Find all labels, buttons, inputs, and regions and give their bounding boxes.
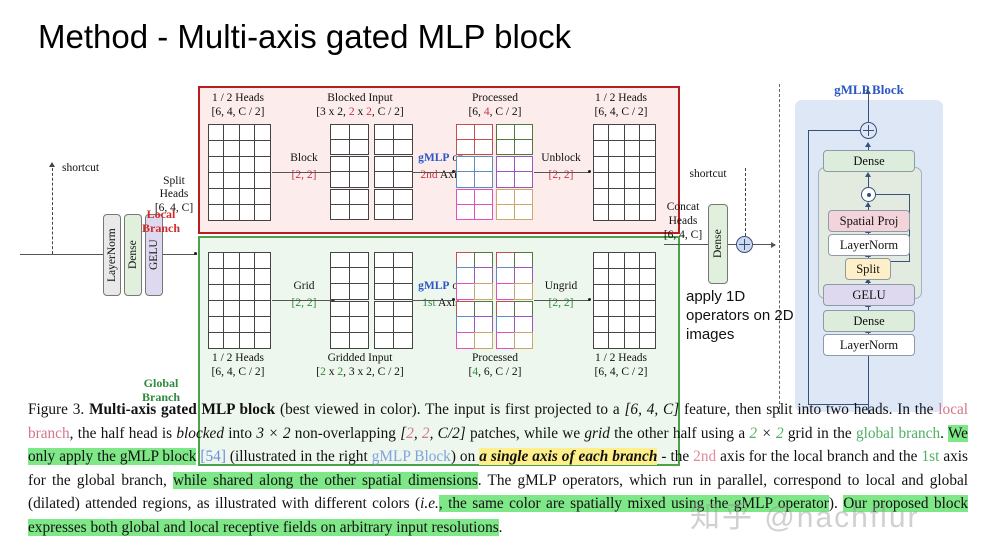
gmlp-layernorm-mid: LayerNorm xyxy=(828,234,910,256)
caption-bold-title: Multi-axis gated MLP block xyxy=(89,401,275,418)
local-proc-shape-a: [6, xyxy=(468,106,483,118)
merge-shortcut-label: shortcut xyxy=(668,168,748,182)
grid-cell xyxy=(349,204,369,220)
input-shortcut-label: shortcut xyxy=(62,162,99,176)
grid-cell xyxy=(208,156,225,173)
grid-cell xyxy=(208,188,225,205)
caption-m1: [6, 4, C] xyxy=(624,401,679,418)
grid-cell xyxy=(330,156,350,172)
grid-cell xyxy=(624,252,641,269)
caption-t2: feature, then split into two heads. In t… xyxy=(679,401,938,418)
grid-cell xyxy=(239,252,256,269)
gmlp-gate-branch-h xyxy=(876,194,910,195)
grid-cell xyxy=(456,283,475,300)
caption-t7: the other half using a xyxy=(610,425,750,442)
grid-cell xyxy=(393,252,413,269)
local-blocked-shape-a: [3 x 2, xyxy=(316,106,349,118)
local-blocked-input xyxy=(330,124,412,220)
caption-axis-2nd: 2nd xyxy=(693,448,716,465)
grid-cell xyxy=(608,300,625,317)
grid-cell xyxy=(496,316,515,333)
grid-cell xyxy=(374,204,394,220)
grid-cell xyxy=(349,189,369,205)
caption-t8: grid in the xyxy=(784,425,856,442)
caption-m3b: 2 xyxy=(406,425,414,442)
grid-cell xyxy=(330,171,350,187)
page-title: Method - Multi-axis gated MLP block xyxy=(38,18,571,56)
gmlp-dense-bottom: Dense xyxy=(823,310,915,332)
grid-cell xyxy=(208,252,225,269)
local-processed-title: Processed xyxy=(440,92,550,106)
global-arrow-ungrid xyxy=(534,300,590,301)
gmlp-residual-plus-icon xyxy=(860,122,877,139)
local-heads-title: 1 / 2 Heads xyxy=(178,92,298,106)
grid-cell xyxy=(349,171,369,187)
sub-grid xyxy=(496,189,532,220)
grid-cell xyxy=(474,332,493,349)
grid-cell xyxy=(474,204,493,220)
grid-cell xyxy=(239,300,256,317)
gmlp-split: Split xyxy=(845,258,891,280)
grid-cell xyxy=(393,204,413,220)
figure-diagram: shortcut LayerNorm Dense GELU Split Head… xyxy=(0,84,991,394)
global-gridded-title: Gridded Input xyxy=(295,352,425,366)
grid-cell xyxy=(496,156,515,172)
grid-cell xyxy=(456,301,475,318)
local-arrow-block xyxy=(272,172,334,173)
local-proc-shape-c: , C / 2] xyxy=(490,106,522,118)
local-blocked-shape: [3 x 2, 2 x 2, C / 2] xyxy=(295,106,425,120)
local-out-title: 1 / 2 Heads xyxy=(566,92,676,106)
grid-cell xyxy=(456,267,475,284)
grid-cell xyxy=(393,332,413,349)
grid-cell xyxy=(608,332,625,349)
input-layernorm-block: LayerNorm xyxy=(103,214,121,296)
grid-cell xyxy=(639,124,656,141)
grid-cell xyxy=(239,156,256,173)
grid-cell xyxy=(254,156,271,173)
global-out-shape: [6, 4, C / 2] xyxy=(566,366,676,380)
grid-cell xyxy=(349,267,369,284)
global-grid-shape-e: , 3 x 2, C / 2] xyxy=(343,366,404,378)
caption-global-branch: global branch xyxy=(856,425,940,442)
concat-arrow xyxy=(664,244,708,245)
grid-cell xyxy=(624,140,641,157)
caption-t5: non-overlapping xyxy=(291,425,401,442)
caption-highlight-yellow: a single axis of each branch xyxy=(479,448,657,465)
local-blocked-title: Blocked Input xyxy=(295,92,425,106)
grid-cell xyxy=(624,300,641,317)
grid-cell xyxy=(349,283,369,300)
grid-cell xyxy=(608,284,625,301)
sub-grid xyxy=(456,189,492,220)
global-gridded-input xyxy=(330,252,412,348)
sub-grid xyxy=(374,252,412,299)
grid-cell xyxy=(330,139,350,155)
grid-cell xyxy=(608,252,625,269)
grid-cell xyxy=(608,188,625,205)
global-arrow-gmlp xyxy=(412,300,454,301)
split-junction-dot xyxy=(194,252,197,255)
gmlp-arrow-to-odot xyxy=(865,202,871,207)
global-axis-num: 1st xyxy=(422,297,435,309)
grid-cell xyxy=(349,316,369,333)
local-blocked-shape-e: , C / 2] xyxy=(372,106,404,118)
concat-shape: [6, 4, C] xyxy=(650,229,716,243)
grid-cell xyxy=(624,332,641,349)
global-gmlp-label: gMLP xyxy=(418,280,449,292)
gmlp-dense-top: Dense xyxy=(823,150,915,172)
grid-cell xyxy=(639,252,656,269)
local-arrow-unblock xyxy=(534,172,590,173)
grid-cell xyxy=(456,171,475,187)
shortcut-arrowhead xyxy=(49,162,55,167)
caption-m4b: × xyxy=(757,425,776,442)
grid-cell xyxy=(374,267,394,284)
caption-axis-1st: 1st xyxy=(921,448,939,465)
grid-cell xyxy=(639,156,656,173)
sub-grid xyxy=(330,157,368,188)
grid-cell xyxy=(496,124,515,140)
grid-cell xyxy=(639,268,656,285)
sub-grid xyxy=(496,301,532,348)
grid-cell xyxy=(624,172,641,189)
grid-cell xyxy=(608,204,625,221)
concat-label-1: Concat xyxy=(650,201,716,215)
grid-cell xyxy=(496,252,515,269)
grid-cell xyxy=(223,140,240,157)
caption-i2: grid xyxy=(584,425,610,442)
grid-cell xyxy=(624,284,641,301)
caption-t17: . xyxy=(499,519,503,536)
grid-cell xyxy=(254,140,271,157)
local-op1-name: Block xyxy=(276,152,332,166)
grid-cell xyxy=(474,189,493,205)
grid-cell xyxy=(223,300,240,317)
caption-figure-number: Figure 3. xyxy=(28,401,84,418)
grid-cell xyxy=(624,316,641,333)
caption-t11: ) on xyxy=(451,448,479,465)
figure-separator-dashed xyxy=(779,84,780,414)
gmlp-gate-multiply-icon xyxy=(861,187,876,202)
caption-highlight-2: while shared along the other spatial dim… xyxy=(173,472,478,489)
grid-cell xyxy=(239,124,256,141)
local-arrow-gmlp xyxy=(412,172,454,173)
grid-cell xyxy=(593,252,610,269)
sub-grid xyxy=(374,301,412,348)
grid-cell xyxy=(639,284,656,301)
sub-grid xyxy=(456,124,492,155)
grid-cell xyxy=(608,268,625,285)
grid-cell xyxy=(393,124,413,140)
local-branch-label-line2: Branch xyxy=(142,221,180,235)
grid-cell xyxy=(349,332,369,349)
gmlp-layernorm-bottom: LayerNorm xyxy=(823,334,915,356)
caption-t6: patches, while we xyxy=(466,425,585,442)
grid-cell xyxy=(374,332,394,349)
grid-cell xyxy=(593,140,610,157)
grid-cell xyxy=(223,284,240,301)
sub-grid xyxy=(496,157,532,188)
grid-cell xyxy=(496,171,515,187)
grid-cell xyxy=(208,332,225,349)
grid-cell xyxy=(514,189,533,205)
caption-t9: . xyxy=(940,425,948,442)
grid-cell xyxy=(208,300,225,317)
grid-cell xyxy=(239,268,256,285)
sub-grid xyxy=(496,252,532,299)
figure-caption: Figure 3. Multi-axis gated MLP block (be… xyxy=(28,398,968,540)
caption-highlight-3: , the same color are spatially mixed usi… xyxy=(439,495,829,512)
caption-gmlp-block-link: gMLP Block xyxy=(372,448,451,465)
grid-cell xyxy=(374,316,394,333)
caption-t1: (best viewed in color). The input is fir… xyxy=(275,401,624,418)
local-processed-shape: [6, 4, C / 2] xyxy=(440,106,550,120)
grid-cell xyxy=(223,268,240,285)
grid-cell xyxy=(496,332,515,349)
caption-i1: blocked xyxy=(176,425,224,442)
grid-cell xyxy=(239,188,256,205)
grid-cell xyxy=(254,284,271,301)
grid-cell xyxy=(639,300,656,317)
global-input-grid xyxy=(208,252,270,348)
caption-m3d: 2 xyxy=(422,425,430,442)
grid-cell xyxy=(456,139,475,155)
grid-cell xyxy=(349,301,369,318)
split-arrow xyxy=(163,254,197,255)
local-out-shape: [6, 4, C / 2] xyxy=(566,106,676,120)
sub-grid xyxy=(330,189,368,220)
grid-cell xyxy=(456,252,475,269)
merge-plus-icon xyxy=(736,236,753,253)
grid-cell xyxy=(639,316,656,333)
grid-cell xyxy=(496,139,515,155)
global-grid-shape-c: x xyxy=(326,366,338,378)
grid-cell xyxy=(330,252,350,269)
grid-cell xyxy=(208,284,225,301)
grid-cell xyxy=(349,139,369,155)
local-blocked-shape-c: x xyxy=(355,106,367,118)
sub-grid xyxy=(374,124,412,155)
gmlp-residual-top xyxy=(808,130,860,131)
caption-m3e: , C/2] xyxy=(430,425,466,442)
global-arrow-grid xyxy=(272,300,334,301)
grid-cell xyxy=(254,332,271,349)
grid-cell xyxy=(374,156,394,172)
sub-grid xyxy=(374,157,412,188)
grid-cell xyxy=(593,172,610,189)
grid-cell xyxy=(593,332,610,349)
grid-cell xyxy=(474,171,493,187)
global-op1-name: Grid xyxy=(276,280,332,294)
grid-cell xyxy=(374,171,394,187)
grid-cell xyxy=(374,301,394,318)
grid-cell xyxy=(474,139,493,155)
grid-cell xyxy=(593,124,610,141)
local-axis-num: 2nd xyxy=(420,169,437,181)
caption-m2: 3 × 2 xyxy=(256,425,290,442)
grid-cell xyxy=(456,316,475,333)
grid-cell xyxy=(349,252,369,269)
slide-root: Method - Multi-axis gated MLP block shor… xyxy=(0,0,991,547)
grid-cell xyxy=(330,189,350,205)
grid-cell xyxy=(474,301,493,318)
sub-grid xyxy=(330,124,368,155)
grid-cell xyxy=(593,284,610,301)
grid-cell xyxy=(239,316,256,333)
grid-cell xyxy=(456,332,475,349)
grid-cell xyxy=(374,124,394,140)
grid-cell xyxy=(456,156,475,172)
caption-t4: into xyxy=(224,425,256,442)
sub-grid xyxy=(330,301,368,348)
gmlp-spatial-proj: Spatial Proj xyxy=(828,210,910,232)
grid-cell xyxy=(239,332,256,349)
concat-label-2: Heads xyxy=(650,215,716,229)
grid-cell xyxy=(474,252,493,269)
global-output-grid xyxy=(593,252,655,348)
gmlp-top-arrowhead xyxy=(865,89,871,94)
grid-cell xyxy=(624,204,641,221)
grid-cell xyxy=(254,252,271,269)
grid-cell xyxy=(349,124,369,140)
caption-t10: (illustrated in the right xyxy=(226,448,372,465)
grid-cell xyxy=(330,124,350,140)
grid-cell xyxy=(608,140,625,157)
grid-cell xyxy=(496,267,515,284)
grid-cell xyxy=(239,172,256,189)
grid-cell xyxy=(496,283,515,300)
grid-cell xyxy=(330,204,350,220)
grid-cell xyxy=(223,316,240,333)
grid-cell xyxy=(608,316,625,333)
grid-cell xyxy=(624,156,641,173)
grid-cell xyxy=(624,268,641,285)
local-output-grid xyxy=(593,124,655,220)
grid-cell xyxy=(474,267,493,284)
local-heads-shape: [6, 4, C / 2] xyxy=(178,106,298,120)
apply-1d-note: apply 1D operators on 2D images xyxy=(686,287,796,344)
grid-cell xyxy=(514,204,533,220)
grid-cell xyxy=(223,172,240,189)
local-op2-name: Unblock xyxy=(528,152,594,166)
caption-m4c: 2 xyxy=(776,425,784,442)
grid-cell xyxy=(474,156,493,172)
global-processed-shape: [4, 6, C / 2] xyxy=(440,366,550,380)
grid-cell xyxy=(223,156,240,173)
gmlp-residual-left xyxy=(808,130,809,404)
merge-out-arrow xyxy=(753,244,775,245)
caption-t13: axis for the local branch and the xyxy=(716,448,921,465)
input-arrow-in xyxy=(20,254,103,255)
grid-cell xyxy=(374,283,394,300)
grid-cell xyxy=(330,267,350,284)
global-op2-name: Ungrid xyxy=(528,280,594,294)
grid-cell xyxy=(349,156,369,172)
grid-cell xyxy=(208,268,225,285)
grid-cell xyxy=(608,124,625,141)
grid-cell xyxy=(514,332,533,349)
global-processed-title: Processed xyxy=(440,352,550,366)
grid-cell xyxy=(474,124,493,140)
grid-cell xyxy=(624,188,641,205)
local-branch-label-line1: Local xyxy=(147,207,176,221)
gmlp-spine-top xyxy=(868,94,869,122)
caption-reference-54: [54] xyxy=(196,448,226,465)
grid-cell xyxy=(496,204,515,220)
caption-ie: i.e. xyxy=(420,495,439,512)
grid-cell xyxy=(208,316,225,333)
grid-cell xyxy=(330,283,350,300)
grid-cell xyxy=(239,204,256,221)
grid-cell xyxy=(393,316,413,333)
grid-cell xyxy=(330,316,350,333)
local-unblock-dot xyxy=(588,170,591,173)
global-heads-title: 1 / 2 Heads xyxy=(178,352,298,366)
grid-cell xyxy=(593,268,610,285)
global-heads-shape: [6, 4, C / 2] xyxy=(178,366,298,380)
split-heads-label-2: Heads xyxy=(139,188,209,202)
gmlp-arrow-to-plus xyxy=(865,142,871,147)
grid-cell xyxy=(456,124,475,140)
caption-t12: - the xyxy=(657,448,693,465)
grid-cell xyxy=(456,189,475,205)
sub-grid xyxy=(456,157,492,188)
grid-cell xyxy=(624,124,641,141)
grid-cell xyxy=(208,204,225,221)
grid-cell xyxy=(639,140,656,157)
grid-cell xyxy=(208,140,225,157)
global-ungrid-dot xyxy=(588,298,591,301)
grid-cell xyxy=(374,252,394,269)
grid-cell xyxy=(254,204,271,221)
grid-cell xyxy=(254,124,271,141)
global-processed-grid xyxy=(456,252,532,348)
sub-grid xyxy=(456,301,492,348)
global-branch-label-line1: Global xyxy=(144,376,179,390)
caption-t16: ). xyxy=(829,495,843,512)
local-processed-grid xyxy=(456,124,532,220)
global-gridded-shape: [2 x 2, 3 x 2, C / 2] xyxy=(295,366,425,380)
grid-cell xyxy=(254,188,271,205)
grid-cell xyxy=(608,156,625,173)
grid-cell xyxy=(223,252,240,269)
grid-cell xyxy=(330,332,350,349)
shortcut-dashed-line xyxy=(52,168,53,254)
grid-cell xyxy=(514,124,533,140)
global-out-title: 1 / 2 Heads xyxy=(566,352,676,366)
grid-cell xyxy=(254,172,271,189)
global-proc-shape-c: , 6, C / 2] xyxy=(478,366,521,378)
grid-cell xyxy=(208,172,225,189)
grid-cell xyxy=(593,188,610,205)
grid-cell xyxy=(514,252,533,269)
merge-dense-block: Dense xyxy=(708,204,728,284)
grid-cell xyxy=(239,284,256,301)
grid-cell xyxy=(223,204,240,221)
split-heads-label-1: Split xyxy=(139,175,209,189)
sub-grid xyxy=(330,252,368,299)
caption-t3: , the half head is xyxy=(70,425,177,442)
caption-m4a: 2 xyxy=(749,425,757,442)
grid-cell xyxy=(208,124,225,141)
sub-grid xyxy=(496,124,532,155)
grid-cell xyxy=(608,172,625,189)
grid-cell xyxy=(239,140,256,157)
gmlp-arrow-to-dense-top xyxy=(865,172,871,177)
grid-cell xyxy=(639,172,656,189)
grid-cell xyxy=(393,189,413,205)
